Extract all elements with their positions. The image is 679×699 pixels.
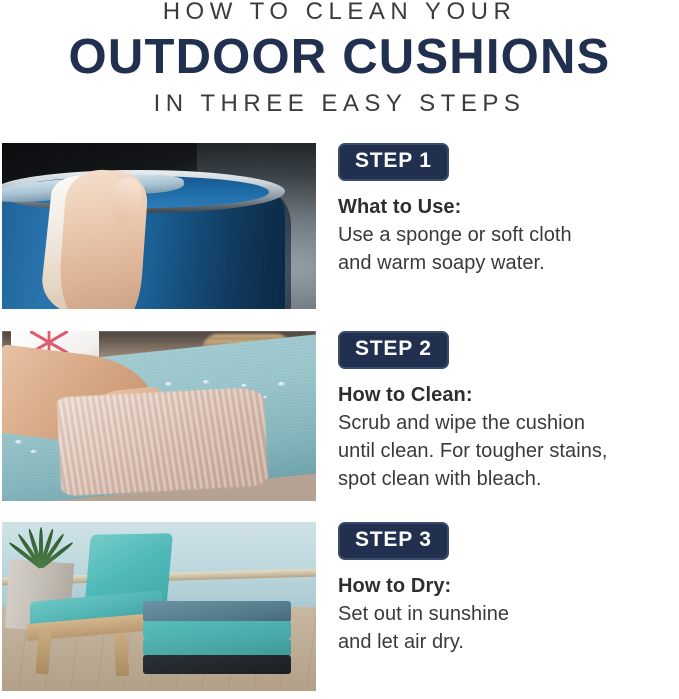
step-1-badge: STEP 1	[338, 143, 449, 181]
step-2-photo	[2, 331, 316, 501]
step-3-badge: STEP 3	[338, 522, 449, 560]
step-1-heading: What to Use:	[338, 194, 679, 221]
step-2-text-column: STEP 2 How to Clean: Scrub and wipe the …	[338, 331, 679, 501]
agave-plant	[11, 524, 71, 568]
stacked-cushion-2	[143, 621, 291, 639]
step-1-text-column: STEP 1 What to Use: Use a sponge or soft…	[338, 143, 679, 309]
step-3-body: Set out in sunshine and let air dry.	[338, 600, 679, 656]
step-1-photo	[2, 143, 316, 309]
infographic-page: HOW TO CLEAN YOUR OUTDOOR CUSHIONS IN TH…	[0, 0, 679, 699]
lounge-chair-leg-rear	[114, 633, 129, 676]
stacked-cushion-4	[143, 655, 291, 674]
stacked-cushion-3	[143, 639, 291, 657]
step-2-heading: How to Clean:	[338, 382, 679, 409]
step-1-body: Use a sponge or soft cloth and warm soap…	[338, 221, 679, 277]
step-2-body: Scrub and wipe the cushion until clean. …	[338, 409, 679, 493]
lounge-chair-leg-front	[35, 630, 51, 675]
pink-towel	[56, 387, 268, 496]
towel-folds	[56, 387, 268, 496]
stacked-cushion-1	[143, 601, 291, 622]
step-3-photo	[2, 522, 316, 691]
title-line-3: IN THREE EASY STEPS	[0, 90, 679, 118]
title-line-2: OUTDOOR CUSHIONS	[0, 27, 679, 87]
stacked-cushions	[143, 601, 291, 675]
step-2-badge: STEP 2	[338, 331, 449, 369]
step-row-2: STEP 2 How to Clean: Scrub and wipe the …	[0, 331, 679, 501]
title-line-1: HOW TO CLEAN YOUR	[0, 0, 679, 26]
step-row-1: STEP 1 What to Use: Use a sponge or soft…	[0, 143, 679, 309]
infographic-header: HOW TO CLEAN YOUR OUTDOOR CUSHIONS IN TH…	[0, 0, 679, 131]
step-3-heading: How to Dry:	[338, 573, 679, 600]
step-3-text-column: STEP 3 How to Dry: Set out in sunshine a…	[338, 522, 679, 691]
step-row-3: STEP 3 How to Dry: Set out in sunshine a…	[0, 522, 679, 691]
